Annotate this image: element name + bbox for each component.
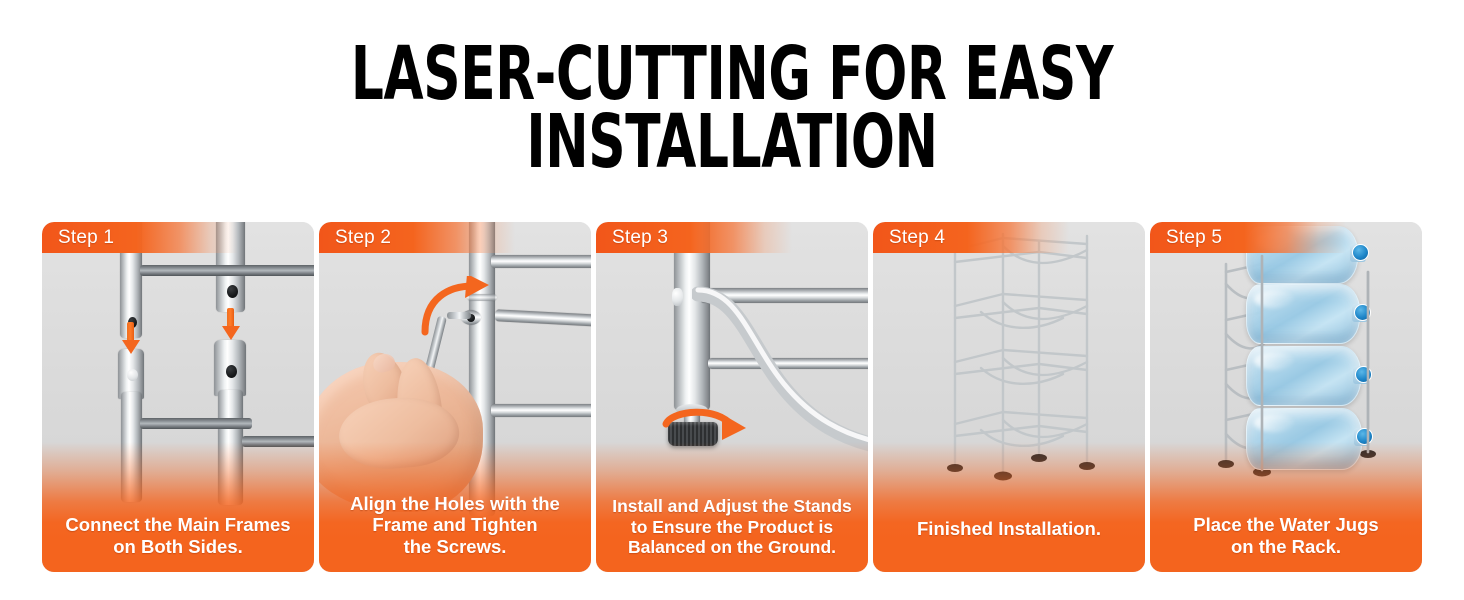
step-caption-4: Finished Installation. (881, 518, 1137, 540)
step-badge-label-2: Step 2 (319, 227, 391, 249)
foot-rotate-arrow-icon (656, 404, 751, 460)
step-card-5: Step 5 Place the Water Jugs on the Rack. (1150, 222, 1422, 572)
step-card-2: Step 2 Align the Holes with the Frame an… (319, 222, 591, 572)
side-bar-mid (495, 309, 591, 327)
hole-upper-right (227, 285, 238, 298)
leg-hole (672, 288, 683, 306)
step-caption-3-line-3: Balanced on the Ground. (604, 537, 860, 558)
step-badge-label-3: Step 3 (596, 227, 668, 249)
step-caption-5: Place the Water Jugs on the Rack. (1158, 514, 1414, 558)
step-caption-5-line-1: Place the Water Jugs (1158, 514, 1414, 536)
step-badge-label-5: Step 5 (1150, 227, 1222, 249)
page-title-line-1: LASER-CUTTING FOR EASY (220, 40, 1245, 108)
step-caption-1-line-1: Connect the Main Frames (50, 514, 306, 536)
step-caption-2-line-1: Align the Holes with the (327, 493, 583, 515)
hole-socket-left (127, 369, 138, 381)
step-badge-2: Step 2 (319, 222, 515, 253)
step-badge-5: Step 5 (1150, 222, 1346, 253)
down-arrow-head-right (222, 326, 240, 340)
step-caption-2-line-2: Frame and Tighten (327, 514, 583, 536)
step-caption-2: Align the Holes with the Frame and Tight… (327, 493, 583, 558)
rack-front-posts (1212, 250, 1382, 480)
step-caption-3-line-2: to Ensure the Product is (604, 517, 860, 538)
rotate-arrow-icon (415, 276, 497, 338)
assembled-rack (941, 228, 1101, 484)
crossbar-bottom (140, 418, 252, 429)
infographic-page: LASER-CUTTING FOR EASY INSTALLATION (0, 0, 1464, 600)
steps-row: Step 1 Connect the Main Frames on Both S… (42, 222, 1422, 572)
step-card-3: Step 3 Install and Adjust the Stands to … (596, 222, 868, 572)
side-bar-bottom (491, 404, 591, 417)
step-caption-3-line-1: Install and Adjust the Stands (604, 496, 860, 517)
crossbar-top-right (242, 265, 314, 276)
step-caption-1-line-2: on Both Sides. (50, 536, 306, 558)
step-caption-5-line-2: on the Rack. (1158, 536, 1414, 558)
page-title: LASER-CUTTING FOR EASY INSTALLATION (220, 40, 1245, 176)
step-badge-4: Step 4 (873, 222, 1069, 253)
step-caption-4-line-1: Finished Installation. (881, 518, 1137, 540)
tube-lower-left (121, 392, 142, 502)
crossbar-bottom-right (242, 436, 314, 447)
step-caption-2-line-3: the Screws. (327, 536, 583, 558)
step-badge-1: Step 1 (42, 222, 238, 253)
side-bar-top (491, 255, 591, 268)
step-caption-3: Install and Adjust the Stands to Ensure … (604, 496, 860, 558)
page-title-line-2: INSTALLATION (220, 108, 1245, 176)
step-badge-3: Step 3 (596, 222, 792, 253)
hole-socket-right (226, 365, 237, 378)
step-badge-label-4: Step 4 (873, 227, 945, 249)
step-card-1: Step 1 Connect the Main Frames on Both S… (42, 222, 314, 572)
step-card-4: Step 4 Finished Installation. (873, 222, 1145, 572)
tube-lower-right (218, 390, 243, 505)
down-arrow-head-left (122, 340, 140, 354)
step-badge-label-1: Step 1 (42, 227, 114, 249)
step-caption-1: Connect the Main Frames on Both Sides. (50, 514, 306, 558)
